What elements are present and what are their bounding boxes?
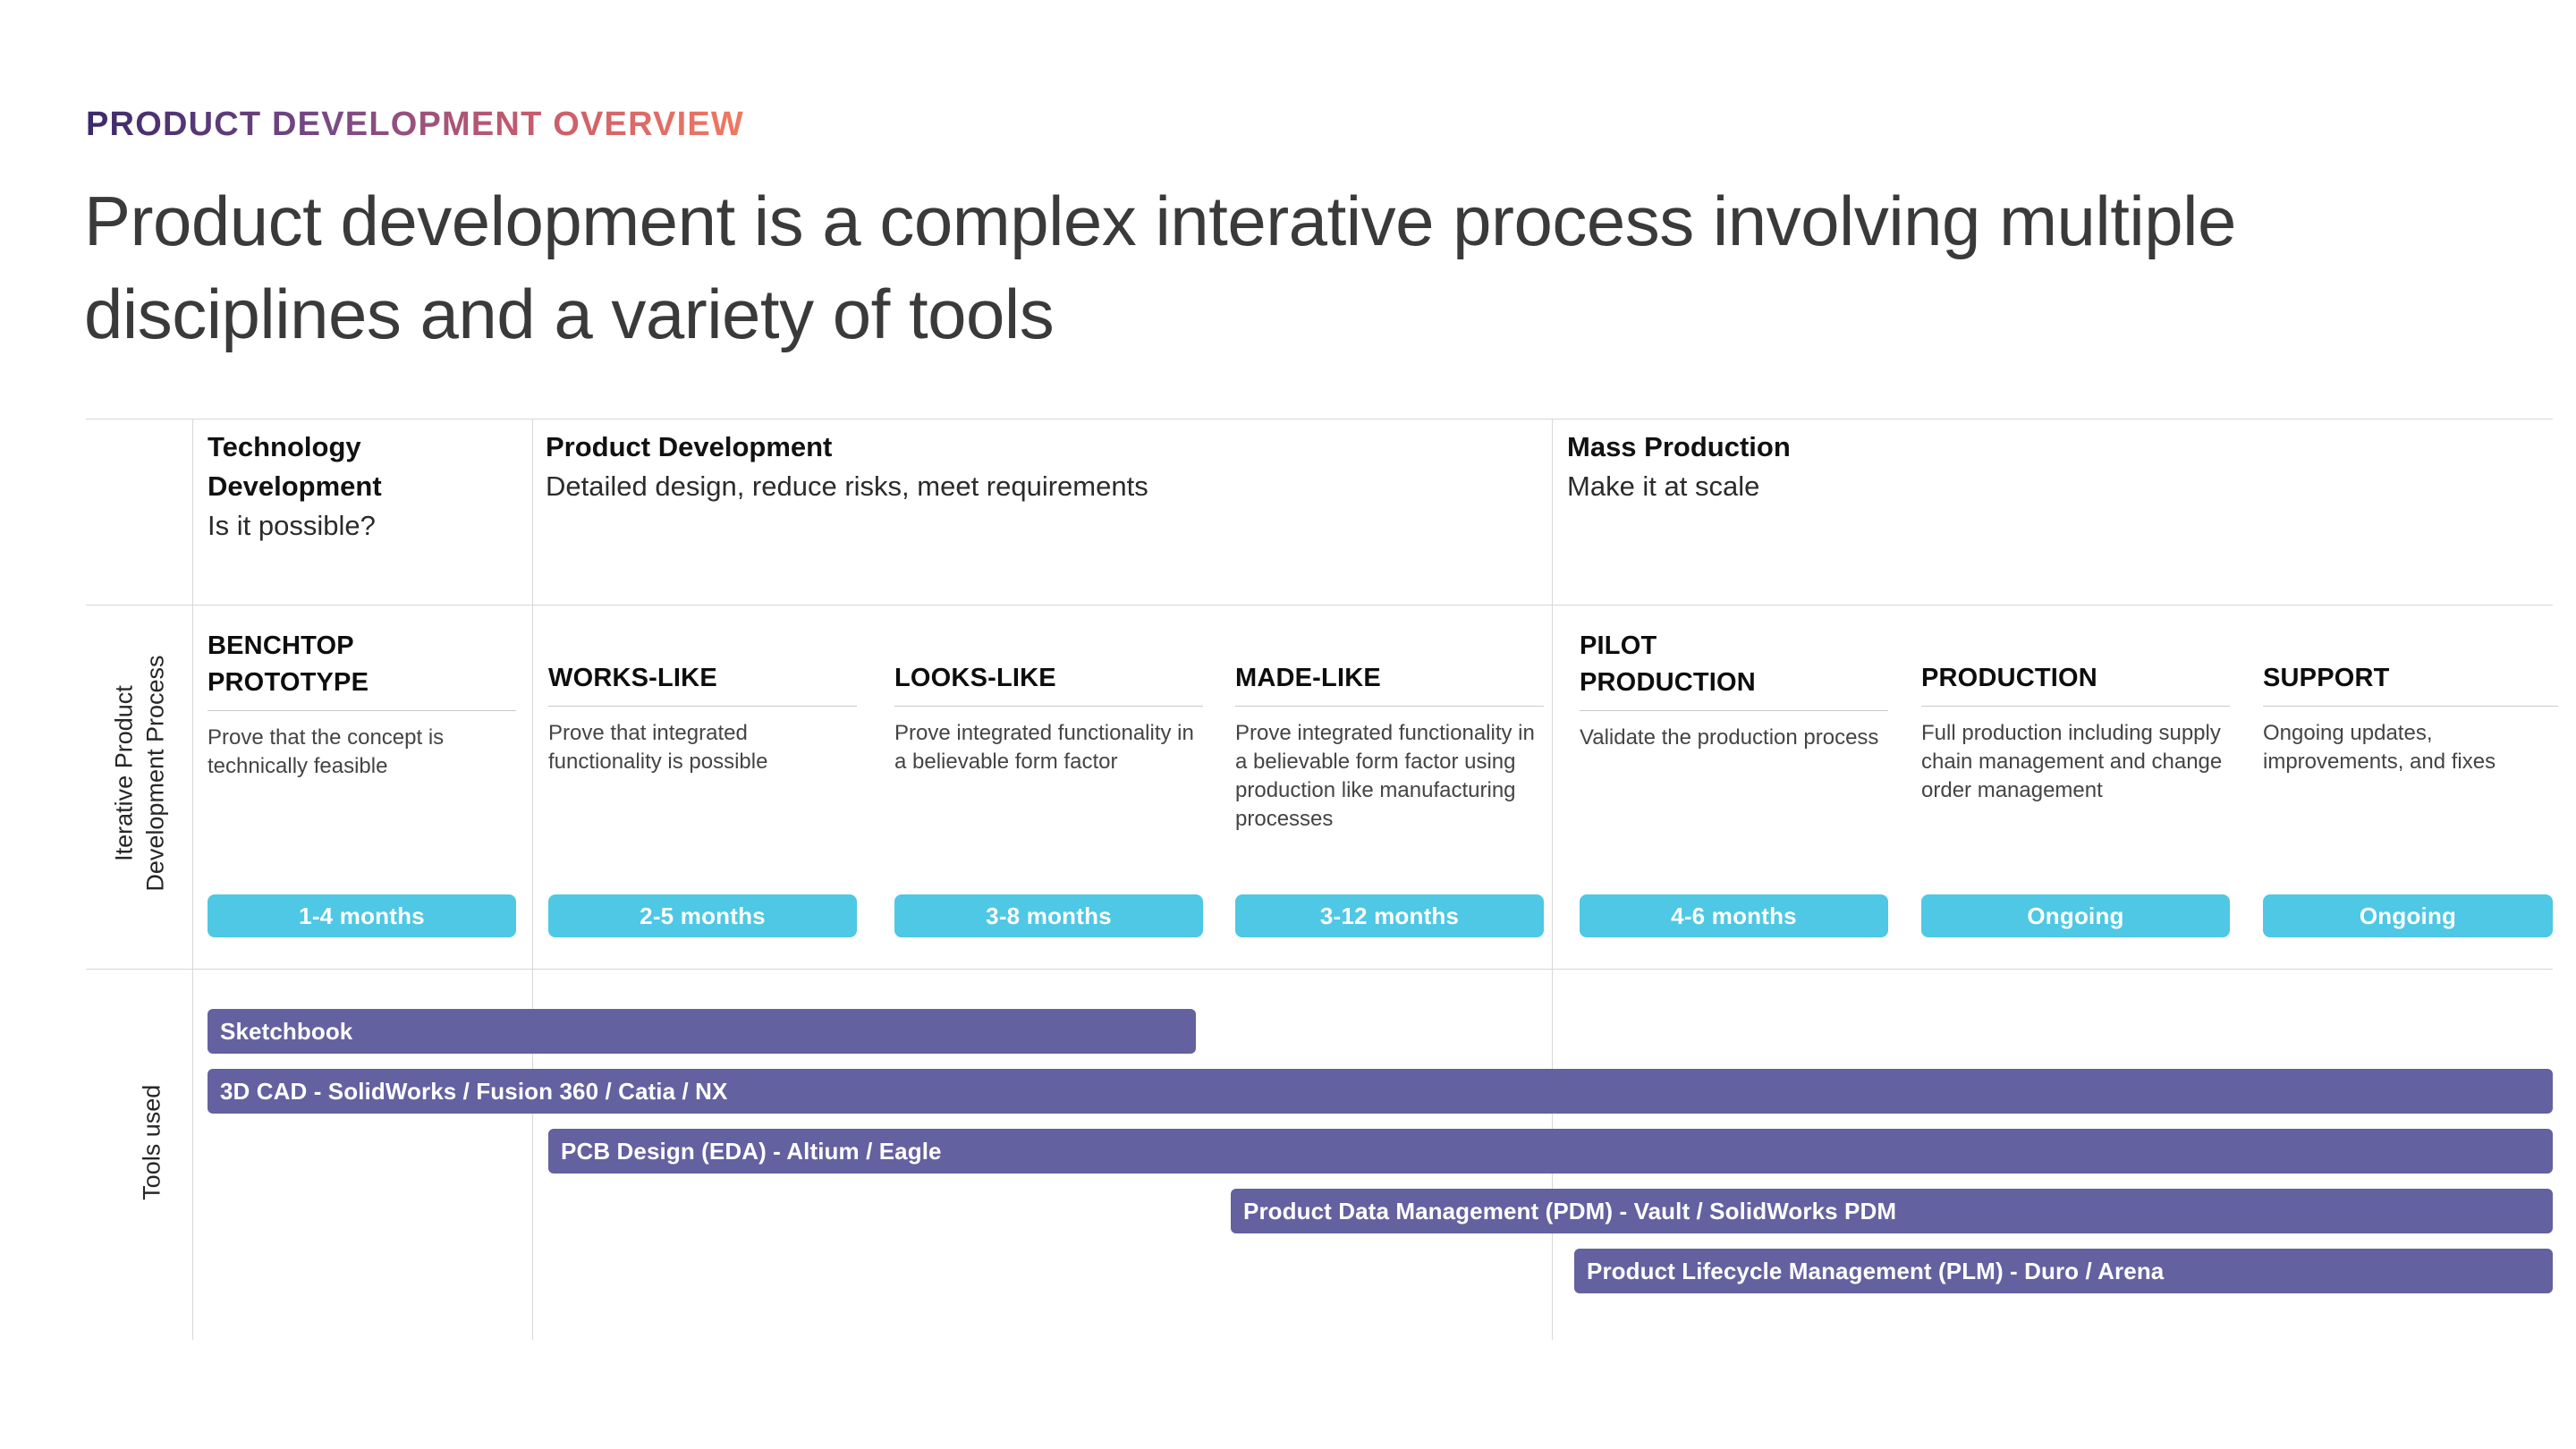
stage-description: Prove integrated functionality in a beli…	[894, 719, 1203, 776]
stage-divider	[548, 706, 857, 707]
grid-line-tools-top	[86, 969, 2553, 970]
stage-card-production: PRODUCTION Full production including sup…	[1921, 660, 2230, 805]
phase-title: Technology Development	[208, 428, 512, 506]
stage-title: SUPPORT	[2263, 660, 2558, 697]
stage-description: Full production including supply chain m…	[1921, 719, 2230, 805]
stage-title: PRODUCTION	[1921, 660, 2230, 697]
stage-card-made-like: MADE-LIKE Prove integrated functionality…	[1235, 660, 1544, 834]
stage-divider	[208, 710, 516, 711]
stage-title: PILOT PRODUCTION	[1580, 628, 1888, 701]
stage-title: BENCHTOP PROTOTYPE	[208, 628, 516, 701]
duration-pill-works-like[interactable]: 2-5 months	[548, 894, 857, 937]
stage-title: MADE-LIKE	[1235, 660, 1544, 697]
tool-bar-sketchbook[interactable]: Sketchbook	[208, 1009, 1196, 1054]
stage-description: Prove that integrated functionality is p…	[548, 719, 857, 776]
duration-pill-production[interactable]: Ongoing	[1921, 894, 2230, 937]
stage-card-works-like: WORKS-LIKE Prove that integrated functio…	[548, 660, 857, 776]
page-title: Product development is a complex interat…	[84, 175, 2517, 360]
grid-divider-label-column	[192, 419, 193, 1340]
phase-title: Product Development	[546, 428, 1529, 467]
stage-description: Ongoing updates, improvements, and fixes	[2263, 719, 2558, 776]
phase-title: Mass Production	[1567, 428, 2551, 467]
stage-divider	[894, 706, 1203, 707]
grid-line-process-top	[86, 605, 2553, 606]
duration-pill-benchtop-prototype[interactable]: 1-4 months	[208, 894, 516, 937]
phase-header-mass-production: Mass Production Make it at scale	[1567, 428, 2551, 506]
stage-card-support: SUPPORT Ongoing updates, improvements, a…	[2263, 660, 2558, 776]
phase-subtitle: Make it at scale	[1567, 467, 2551, 506]
phase-subtitle: Is it possible?	[208, 506, 512, 546]
duration-pill-made-like[interactable]: 3-12 months	[1235, 894, 1544, 937]
stage-divider	[1580, 710, 1888, 711]
grid-line-top	[86, 419, 2553, 419]
stage-description: Validate the production process	[1580, 724, 1888, 752]
stage-title: LOOKS-LIKE	[894, 660, 1203, 697]
phase-header-technology-development: Technology Development Is it possible?	[208, 428, 512, 546]
phase-header-product-development: Product Development Detailed design, red…	[546, 428, 1529, 506]
grid-divider-phase-1	[532, 419, 533, 1340]
tool-bar-3d-cad[interactable]: 3D CAD - SolidWorks / Fusion 360 / Catia…	[208, 1069, 2553, 1114]
row-label-tools: Tools used	[137, 1008, 168, 1276]
stage-divider	[2263, 706, 2558, 707]
tool-bar-plm[interactable]: Product Lifecycle Management (PLM) - Dur…	[1574, 1249, 2553, 1293]
stage-description: Prove that the concept is technically fe…	[208, 724, 516, 781]
stage-card-benchtop-prototype: BENCHTOP PROTOTYPE Prove that the concep…	[208, 628, 516, 781]
duration-pill-pilot-production[interactable]: 4-6 months	[1580, 894, 1888, 937]
phase-subtitle: Detailed design, reduce risks, meet requ…	[546, 467, 1529, 506]
tool-bar-pdm[interactable]: Product Data Management (PDM) - Vault / …	[1231, 1189, 2553, 1233]
duration-pill-support[interactable]: Ongoing	[2263, 894, 2553, 937]
stage-card-looks-like: LOOKS-LIKE Prove integrated functionalit…	[894, 660, 1203, 776]
stage-divider	[1235, 706, 1544, 707]
page-eyebrow: PRODUCT DEVELOPMENT OVERVIEW	[86, 106, 744, 144]
tool-bar-pcb-design[interactable]: PCB Design (EDA) - Altium / Eagle	[548, 1129, 2553, 1174]
row-label-process: Iterative Product Development Process	[108, 622, 170, 926]
stage-title: WORKS-LIKE	[548, 660, 857, 697]
stage-description: Prove integrated functionality in a beli…	[1235, 719, 1544, 834]
stage-divider	[1921, 706, 2230, 707]
stage-card-pilot-production: PILOT PRODUCTION Validate the production…	[1580, 628, 1888, 752]
duration-pill-looks-like[interactable]: 3-8 months	[894, 894, 1203, 937]
